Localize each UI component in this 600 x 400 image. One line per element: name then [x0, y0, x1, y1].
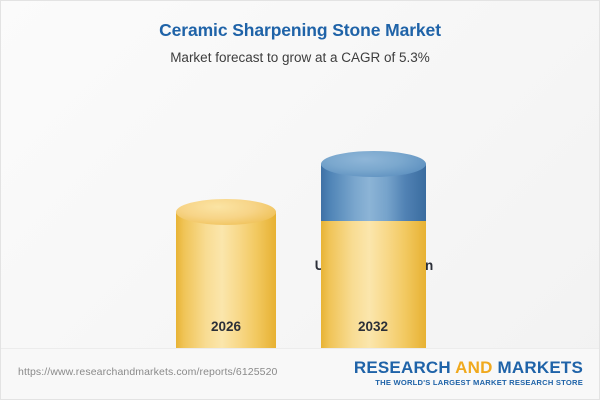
- footer-bar: https://www.researchandmarkets.com/repor…: [1, 348, 599, 399]
- x-axis-label-2026: 2026: [146, 319, 306, 334]
- x-axis-label-2032: 2032: [293, 319, 453, 334]
- brand-name-and: AND: [455, 358, 492, 377]
- chart-plot-area: USD 92.05 Billion USD 126.57 Billion: [1, 1, 600, 349]
- brand-logo: RESEARCH AND MARKETS THE WORLD'S LARGEST…: [354, 358, 583, 388]
- cylinder-top-face: [321, 151, 426, 177]
- bar-segment-growth-2032: [321, 164, 426, 221]
- brand-name-part2: MARKETS: [493, 358, 583, 377]
- brand-name-part1: RESEARCH: [354, 358, 455, 377]
- cylinder-top-face: [176, 199, 276, 225]
- report-url[interactable]: https://www.researchandmarkets.com/repor…: [18, 366, 277, 378]
- market-forecast-infographic: Ceramic Sharpening Stone Market Market f…: [0, 0, 600, 400]
- brand-name: RESEARCH AND MARKETS: [354, 358, 583, 377]
- brand-tagline: THE WORLD'S LARGEST MARKET RESEARCH STOR…: [354, 377, 583, 388]
